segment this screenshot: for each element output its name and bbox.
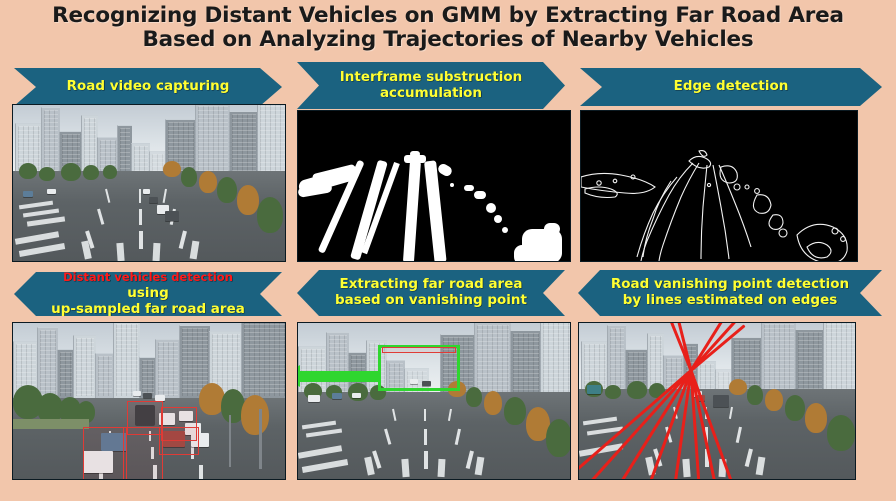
tree bbox=[83, 165, 99, 180]
vehicle bbox=[165, 211, 179, 221]
building bbox=[540, 323, 570, 395]
road-arrow-marking bbox=[153, 243, 161, 261]
building bbox=[155, 339, 180, 398]
vehicle bbox=[143, 189, 150, 194]
lane-marking bbox=[424, 429, 427, 445]
vehicle bbox=[23, 191, 33, 197]
detection-bounding-box bbox=[123, 427, 163, 479]
tree bbox=[627, 381, 647, 399]
tree bbox=[747, 385, 763, 405]
stage-banner-label-multiline: Distant vehicles detection using up-samp… bbox=[14, 270, 282, 318]
building bbox=[607, 325, 626, 392]
median-strip bbox=[13, 419, 89, 429]
vehicle bbox=[133, 391, 141, 396]
tree bbox=[163, 161, 181, 177]
page-title: Recognizing Distant Vehicles on GMM by E… bbox=[0, 4, 896, 52]
tree bbox=[605, 385, 621, 399]
stage-banner-label-line-2: based on vanishing point bbox=[335, 292, 527, 308]
tree bbox=[217, 177, 237, 203]
stage-banner-label-line-1: Road vanishing point detection bbox=[611, 276, 849, 292]
building bbox=[241, 323, 285, 398]
stage-banner-label-line-1: Extracting far road area bbox=[339, 276, 522, 292]
building bbox=[95, 353, 114, 398]
stage-banner-road-vanishing-point-detection[interactable]: Road vanishing point detection by lines … bbox=[578, 270, 882, 316]
building bbox=[474, 323, 511, 395]
building bbox=[510, 330, 541, 395]
stage-banner-interframe-substruction[interactable]: Interframe substruction accumulation bbox=[297, 62, 565, 109]
tree bbox=[348, 383, 368, 401]
building bbox=[761, 323, 796, 392]
building bbox=[823, 323, 855, 392]
stage-banner-label: Edge detection bbox=[648, 79, 815, 95]
motion-blob bbox=[410, 151, 420, 157]
tree bbox=[181, 167, 197, 187]
far-road-area-arrow-shaft bbox=[298, 371, 378, 382]
edge-map-image bbox=[581, 111, 857, 261]
panel-extracting-far-road-area bbox=[297, 322, 571, 480]
street-scene-image bbox=[13, 323, 285, 479]
building bbox=[257, 105, 285, 174]
tree bbox=[504, 397, 526, 425]
vehicle bbox=[308, 395, 320, 402]
tree bbox=[257, 197, 283, 233]
lane-marking bbox=[139, 189, 141, 203]
tree bbox=[466, 387, 482, 407]
building bbox=[57, 349, 74, 398]
tree bbox=[805, 403, 827, 433]
edge-contours-svg bbox=[581, 111, 858, 262]
vehicle bbox=[587, 385, 601, 394]
motion-blob bbox=[450, 183, 454, 187]
vehicle bbox=[352, 393, 361, 398]
stage-banner-distant-vehicle-detection[interactable]: Distant vehicles detection using up-samp… bbox=[14, 272, 282, 316]
building bbox=[37, 327, 58, 398]
building bbox=[113, 323, 140, 398]
vehicle bbox=[143, 393, 152, 398]
stage-banner-label-line-1: Interframe substruction bbox=[340, 69, 523, 85]
building bbox=[117, 125, 132, 174]
building bbox=[73, 335, 96, 398]
trajectory-streak bbox=[424, 160, 447, 262]
pole bbox=[229, 415, 231, 467]
building bbox=[131, 143, 150, 174]
poster-root: Recognizing Distant Vehicles on GMM by E… bbox=[0, 0, 896, 501]
road-arrow-marking bbox=[116, 243, 124, 261]
stage-banner-label-line-2: accumulation bbox=[380, 85, 482, 101]
tree bbox=[19, 163, 37, 179]
panel-road-vanishing-point-detection bbox=[578, 322, 856, 480]
vehicle bbox=[47, 189, 56, 194]
far-road-area-arrow-head bbox=[298, 365, 300, 387]
tree bbox=[39, 167, 55, 181]
stage-banner-road-video-capturing[interactable]: Road video capturing bbox=[14, 68, 282, 106]
road-arrow-marking bbox=[682, 459, 690, 477]
tree bbox=[765, 389, 783, 411]
street-scene-image bbox=[579, 323, 855, 479]
detection-bounding-box bbox=[83, 427, 127, 479]
tree bbox=[237, 185, 259, 215]
street-scene-image bbox=[298, 323, 570, 479]
tree bbox=[484, 391, 502, 415]
title-line-2: Based on Analyzing Trajectories of Nearb… bbox=[0, 28, 896, 52]
motion-blob bbox=[514, 245, 544, 262]
stage-banner-label: Road video capturing bbox=[41, 79, 256, 95]
lane-marking bbox=[424, 409, 426, 421]
lane-marking bbox=[199, 465, 203, 479]
detection-bounding-box bbox=[159, 427, 199, 455]
binary-mask-image bbox=[298, 111, 570, 261]
tree bbox=[546, 419, 570, 457]
tree bbox=[729, 379, 747, 395]
vehicle bbox=[332, 393, 342, 399]
building bbox=[41, 107, 60, 174]
tree bbox=[61, 163, 81, 181]
stage-banner-label-multiline: Extracting far road area based on vanish… bbox=[309, 277, 553, 309]
stage-banner-extracting-far-road-area[interactable]: Extracting far road area based on vanish… bbox=[297, 270, 565, 316]
vehicle bbox=[149, 197, 158, 203]
motion-blob bbox=[502, 227, 508, 233]
panel-distant-vehicle-detection bbox=[12, 322, 286, 480]
stage-banner-label-line-2: by lines estimated on edges bbox=[623, 292, 838, 308]
vehicle bbox=[713, 395, 729, 407]
stage-banner-label-normal: using bbox=[127, 285, 169, 301]
motion-blob bbox=[474, 191, 486, 199]
stage-banner-label-highlight: Distant vehicles detection bbox=[63, 270, 233, 284]
panel-interframe-substruction-accumulation bbox=[297, 110, 571, 262]
stage-banner-label-line-2: up-sampled far road area bbox=[51, 301, 245, 317]
lane-marking bbox=[139, 209, 142, 225]
building bbox=[229, 111, 258, 174]
motion-blob bbox=[494, 215, 502, 223]
building bbox=[195, 105, 230, 174]
motion-blob bbox=[544, 223, 560, 235]
far-road-detection-hint bbox=[382, 347, 456, 353]
tree bbox=[103, 165, 117, 179]
stage-banner-label-multiline: Road vanishing point detection by lines … bbox=[585, 277, 875, 309]
tree bbox=[785, 395, 805, 421]
motion-blob bbox=[436, 162, 453, 178]
building bbox=[139, 357, 156, 398]
building bbox=[697, 361, 716, 392]
title-line-1: Recognizing Distant Vehicles on GMM by E… bbox=[0, 4, 896, 28]
motion-blob bbox=[464, 185, 474, 191]
panel-edge-detection bbox=[580, 110, 858, 262]
street-scene-image bbox=[13, 105, 285, 261]
tree bbox=[241, 395, 269, 435]
road-arrow-marking bbox=[438, 459, 446, 477]
building bbox=[795, 329, 824, 392]
pole bbox=[259, 409, 262, 469]
motion-blob bbox=[486, 203, 496, 213]
trajectory-streak bbox=[403, 161, 421, 262]
panel-road-video-capturing bbox=[12, 104, 286, 262]
road-arrow-marking bbox=[401, 459, 409, 477]
stage-banner-label-multiline: Interframe substruction accumulation bbox=[314, 70, 549, 102]
tree bbox=[827, 415, 855, 451]
motion-blob bbox=[430, 185, 434, 189]
tree bbox=[199, 171, 217, 193]
lane-marking bbox=[424, 451, 428, 469]
lane-marking bbox=[139, 231, 143, 249]
stage-banner-edge-detection[interactable]: Edge detection bbox=[580, 68, 882, 106]
